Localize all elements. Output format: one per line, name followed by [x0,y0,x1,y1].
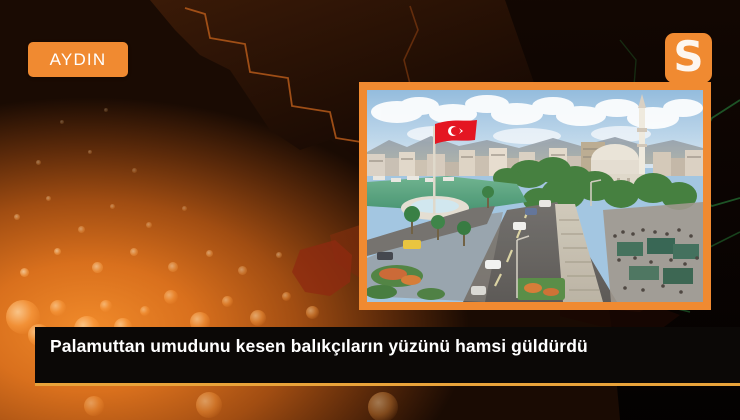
caption-bar: Palamuttan umudunu kesen balıkçıların yü… [35,327,740,386]
brand-logo[interactable]: S [665,33,712,83]
city-badge: AYDIN [28,42,128,77]
city-badge-label: AYDIN [50,51,107,68]
city-scene-illustration [367,90,703,302]
brand-logo-glyph: S [673,36,703,78]
thumbnail-stage: AYDIN S [0,0,740,420]
caption-headline: Palamuttan umudunu kesen balıkçıların yü… [35,327,602,357]
inset-photo-frame [359,82,711,310]
bottom-background-strip [0,386,740,420]
inset-photo-image [367,90,703,302]
